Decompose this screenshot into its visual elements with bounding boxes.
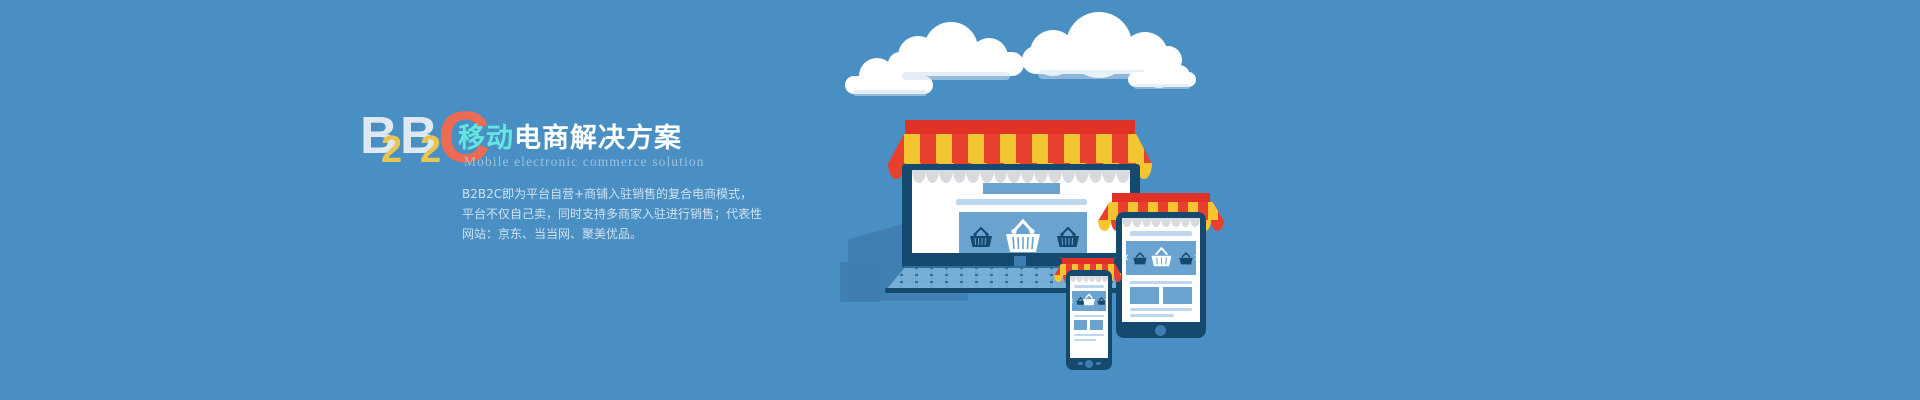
scallop-grey xyxy=(926,170,940,183)
tablet-page-line xyxy=(1130,231,1192,236)
phone-basket-right-icon[interactable] xyxy=(1096,296,1107,307)
scallop-grey xyxy=(1095,276,1101,282)
multi-device-ecommerce-illustration: ‹ › xyxy=(840,0,1920,400)
tablet-basket-left-icon[interactable] xyxy=(1131,250,1149,268)
laptop-basket-right-icon[interactable] xyxy=(1053,223,1083,253)
tablet-inner-scallops xyxy=(1122,218,1200,227)
headline-rest: 电商解决方案 xyxy=(514,123,682,154)
scallop-grey xyxy=(912,170,926,183)
page-title: 移动电商解决方案 xyxy=(458,116,682,155)
laptop-ground-shadow-2 xyxy=(840,262,880,302)
tablet-awning-top-bar xyxy=(1112,193,1210,202)
scallop-grey xyxy=(1048,170,1062,183)
phone-basket-center-icon[interactable] xyxy=(1081,292,1097,308)
scallop-grey xyxy=(1161,218,1171,227)
tablet-basket-right-icon[interactable] xyxy=(1177,250,1195,268)
logo-and-headline-row: B 2 B 2 C 移动电商解决方案 Mobile electronic com… xyxy=(360,108,800,170)
scallop-grey xyxy=(994,170,1008,183)
scallop-grey xyxy=(1132,218,1142,227)
phone-content-line xyxy=(1074,339,1096,341)
phone-content-line xyxy=(1074,334,1104,336)
tablet-content-line xyxy=(1130,308,1192,311)
phone-inner-scallops xyxy=(1070,276,1108,282)
b2b2c-hero-banner: B 2 B 2 C 移动电商解决方案 Mobile electronic com… xyxy=(0,0,1920,400)
phone-content-line xyxy=(1074,315,1104,317)
tablet-content-line xyxy=(1130,281,1192,284)
tablet-home-button[interactable] xyxy=(1155,325,1166,336)
scallop-grey xyxy=(1102,170,1116,183)
scallop-grey xyxy=(939,170,953,183)
laptop-basket-left-icon[interactable] xyxy=(966,223,996,253)
subheadline: Mobile electronic commerce solution xyxy=(464,154,705,170)
scallop-grey xyxy=(980,170,994,183)
laptop-page-header-block xyxy=(983,183,1060,194)
scallop-grey xyxy=(1075,170,1089,183)
phone-content-card xyxy=(1090,320,1103,330)
phone-page-line xyxy=(1074,285,1104,288)
laptop-awning-stripes xyxy=(888,134,1152,164)
phone-home-button[interactable] xyxy=(1085,360,1093,368)
tablet-carousel-prev-arrow[interactable]: ‹ xyxy=(1122,249,1131,265)
scallop-grey xyxy=(1102,276,1108,282)
laptop-hinge-square xyxy=(1014,256,1026,266)
phone-content-card xyxy=(1074,320,1087,330)
laptop-awning-top-bar xyxy=(905,120,1135,134)
scallop-grey xyxy=(1089,170,1103,183)
scallop-grey xyxy=(1076,276,1082,282)
tablet-content-line xyxy=(1130,314,1174,317)
scallop-grey xyxy=(1116,170,1130,183)
phone-awning-top-bar xyxy=(1062,258,1114,264)
scallop-grey xyxy=(1122,218,1132,227)
tablet-content-card xyxy=(1130,287,1159,304)
scallop xyxy=(1211,220,1224,231)
logo-digit-two-first: 2 xyxy=(381,131,402,169)
description-paragraph: B2B2C即为平台自营+商铺入驻销售的复合电商模式，平台不仅自己卖，同时支持多商… xyxy=(462,184,762,244)
scallop xyxy=(1054,275,1063,282)
scallop-grey xyxy=(1171,218,1181,227)
scallop-grey xyxy=(1151,218,1161,227)
tablet-content-card xyxy=(1163,287,1192,304)
scallop-grey xyxy=(1142,218,1152,227)
phone-camera xyxy=(1096,362,1101,365)
laptop-page-line xyxy=(956,199,1087,205)
scallop-grey xyxy=(1190,218,1200,227)
headline-highlight: 移动 xyxy=(458,123,514,154)
scallop xyxy=(1098,220,1111,231)
banner-text-block: B 2 B 2 C 移动电商解决方案 Mobile electronic com… xyxy=(360,108,800,170)
scallop-grey xyxy=(1181,218,1191,227)
scallop-grey xyxy=(1007,170,1021,183)
scallop-grey xyxy=(1021,170,1035,183)
phone-speaker xyxy=(1078,362,1083,365)
laptop-inner-scallops xyxy=(912,170,1130,183)
tablet-basket-center-icon[interactable] xyxy=(1148,244,1175,271)
scallop xyxy=(1114,275,1123,282)
laptop-carousel-prev-arrow[interactable]: ‹ xyxy=(945,224,959,246)
scallop-grey xyxy=(1034,170,1048,183)
scallop-grey xyxy=(953,170,967,183)
phone-screen-page xyxy=(1070,276,1108,358)
scallop-grey xyxy=(1062,170,1076,183)
scallop-grey xyxy=(966,170,980,183)
b2b2c-logo: B 2 B 2 C xyxy=(360,108,470,170)
